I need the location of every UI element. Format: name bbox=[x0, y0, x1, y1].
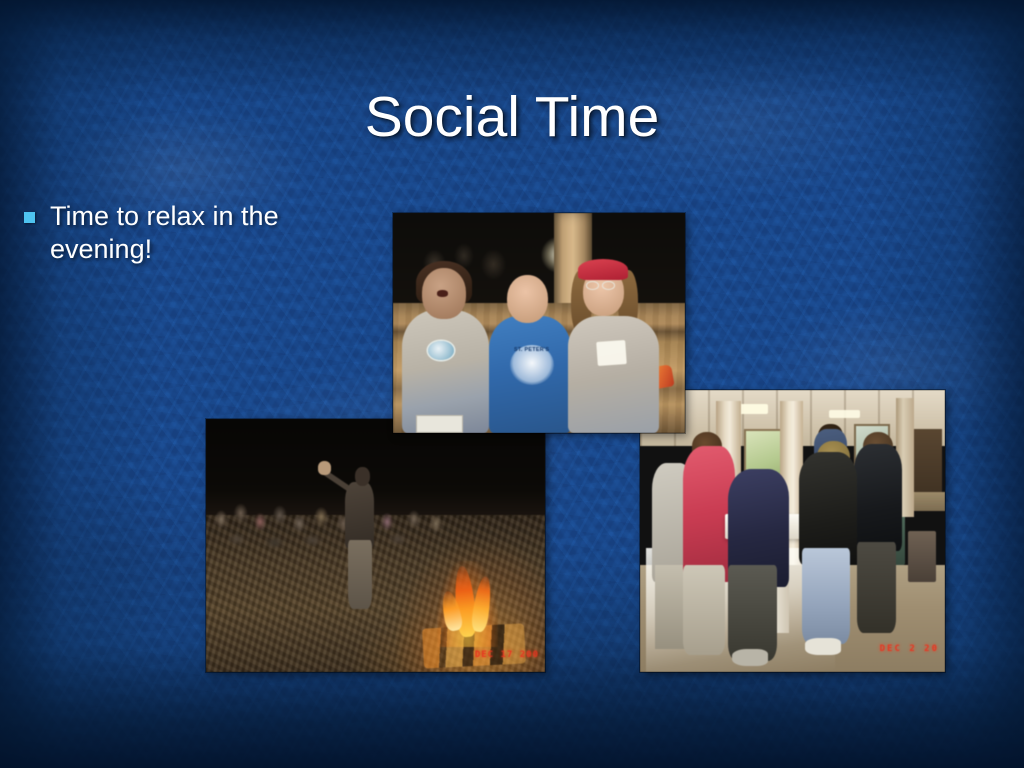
glasses-right-lens bbox=[602, 281, 615, 290]
right-girl-hoodie bbox=[568, 316, 659, 433]
red-bandana bbox=[578, 259, 628, 280]
left-girl-mouth bbox=[437, 290, 449, 297]
photo-lodge-game-table[interactable]: DEC 2 20 bbox=[640, 390, 945, 672]
leader-hand bbox=[318, 461, 332, 475]
photo-bonfire-gathering[interactable]: DEC 17 200 bbox=[206, 419, 545, 672]
photo-lodge-scene: DEC 2 20 bbox=[640, 390, 945, 672]
leader-head bbox=[355, 467, 370, 486]
kid-navy-shoe bbox=[732, 649, 769, 666]
bullet-text: Time to relax in the evening! bbox=[50, 200, 354, 266]
chair-right bbox=[908, 531, 935, 582]
kid-far-legs bbox=[857, 542, 897, 632]
ceiling-light-right bbox=[829, 410, 860, 418]
kid-far-jacket bbox=[854, 444, 903, 551]
list-item: Time to relax in the evening! bbox=[24, 200, 354, 266]
slide: Social Time Time to relax in the evening… bbox=[0, 0, 1024, 768]
floor-marker bbox=[416, 415, 463, 433]
photo-girls-on-bench[interactable]: ST. PETER'S bbox=[393, 213, 685, 433]
camera-date-stamp: DEC 2 20 bbox=[880, 644, 939, 654]
center-girl-head bbox=[507, 275, 548, 323]
kid-black-jeans bbox=[802, 548, 851, 644]
photo-girls-scene: ST. PETER'S bbox=[393, 213, 685, 433]
square-bullet-icon bbox=[24, 212, 35, 223]
leader-legs bbox=[348, 540, 372, 608]
name-tag bbox=[597, 340, 628, 366]
kid-red-legs bbox=[683, 565, 726, 655]
kid-navy-legs bbox=[728, 565, 777, 661]
leader-torso bbox=[345, 482, 374, 548]
camera-date-stamp: DEC 17 200 bbox=[475, 650, 539, 660]
sweatshirt-logo-text: ST. PETER'S bbox=[510, 345, 554, 385]
bullet-list: Time to relax in the evening! bbox=[24, 200, 354, 266]
photo-bonfire-scene: DEC 17 200 bbox=[206, 419, 545, 672]
kid-black-shoe bbox=[805, 638, 842, 655]
glasses-left-lens bbox=[586, 281, 599, 290]
page-title: Social Time bbox=[0, 88, 1024, 148]
